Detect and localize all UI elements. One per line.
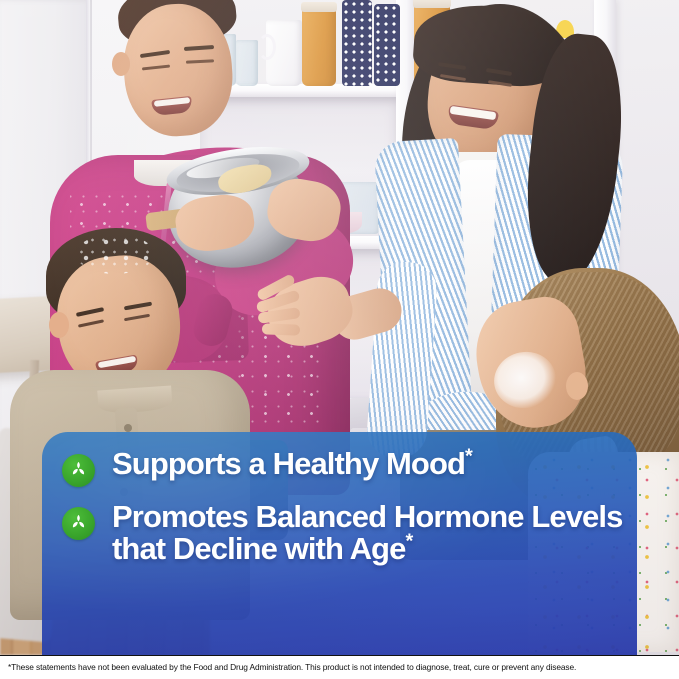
girl-ear <box>566 372 588 400</box>
product-image-card: Supports a Healthy Mood* Promotes Balanc… <box>0 0 679 679</box>
claim-item-2: Promotes Balanced Hormone Levels that De… <box>62 501 623 564</box>
disclaimer-text: *These statements have not been evaluate… <box>8 663 576 672</box>
leaf-sprout-icon <box>62 507 95 540</box>
claim-text-1: Supports a Healthy Mood* <box>112 448 472 480</box>
claim-footnote-marker-1: * <box>465 446 472 468</box>
boy-button-1 <box>124 424 132 432</box>
disclaimer-bar: *These statements have not been evaluate… <box>0 655 679 679</box>
boy-ear <box>49 312 69 338</box>
amber-jar-b-lid <box>413 0 451 8</box>
father-ear <box>112 52 130 76</box>
amber-jar-a <box>302 8 336 86</box>
mother-finger-4 <box>262 323 300 335</box>
claims-list: Supports a Healthy Mood* Promotes Balanc… <box>62 448 623 564</box>
claim-text-2: Promotes Balanced Hormone Levels that De… <box>112 501 623 564</box>
claim-footnote-marker-2: * <box>405 530 412 552</box>
polkadot-tin-b <box>374 4 400 86</box>
glass-jar-b <box>236 40 258 86</box>
leaf-sprout-icon <box>62 454 95 487</box>
claim-item-1: Supports a Healthy Mood* <box>62 448 623 487</box>
boy-flour-in-hair <box>76 234 154 274</box>
pitcher-handle <box>258 34 276 60</box>
polkadot-tin-a <box>342 0 372 86</box>
claims-panel: Supports a Healthy Mood* Promotes Balanc… <box>42 432 637 655</box>
amber-jar-a-lid <box>301 2 337 12</box>
